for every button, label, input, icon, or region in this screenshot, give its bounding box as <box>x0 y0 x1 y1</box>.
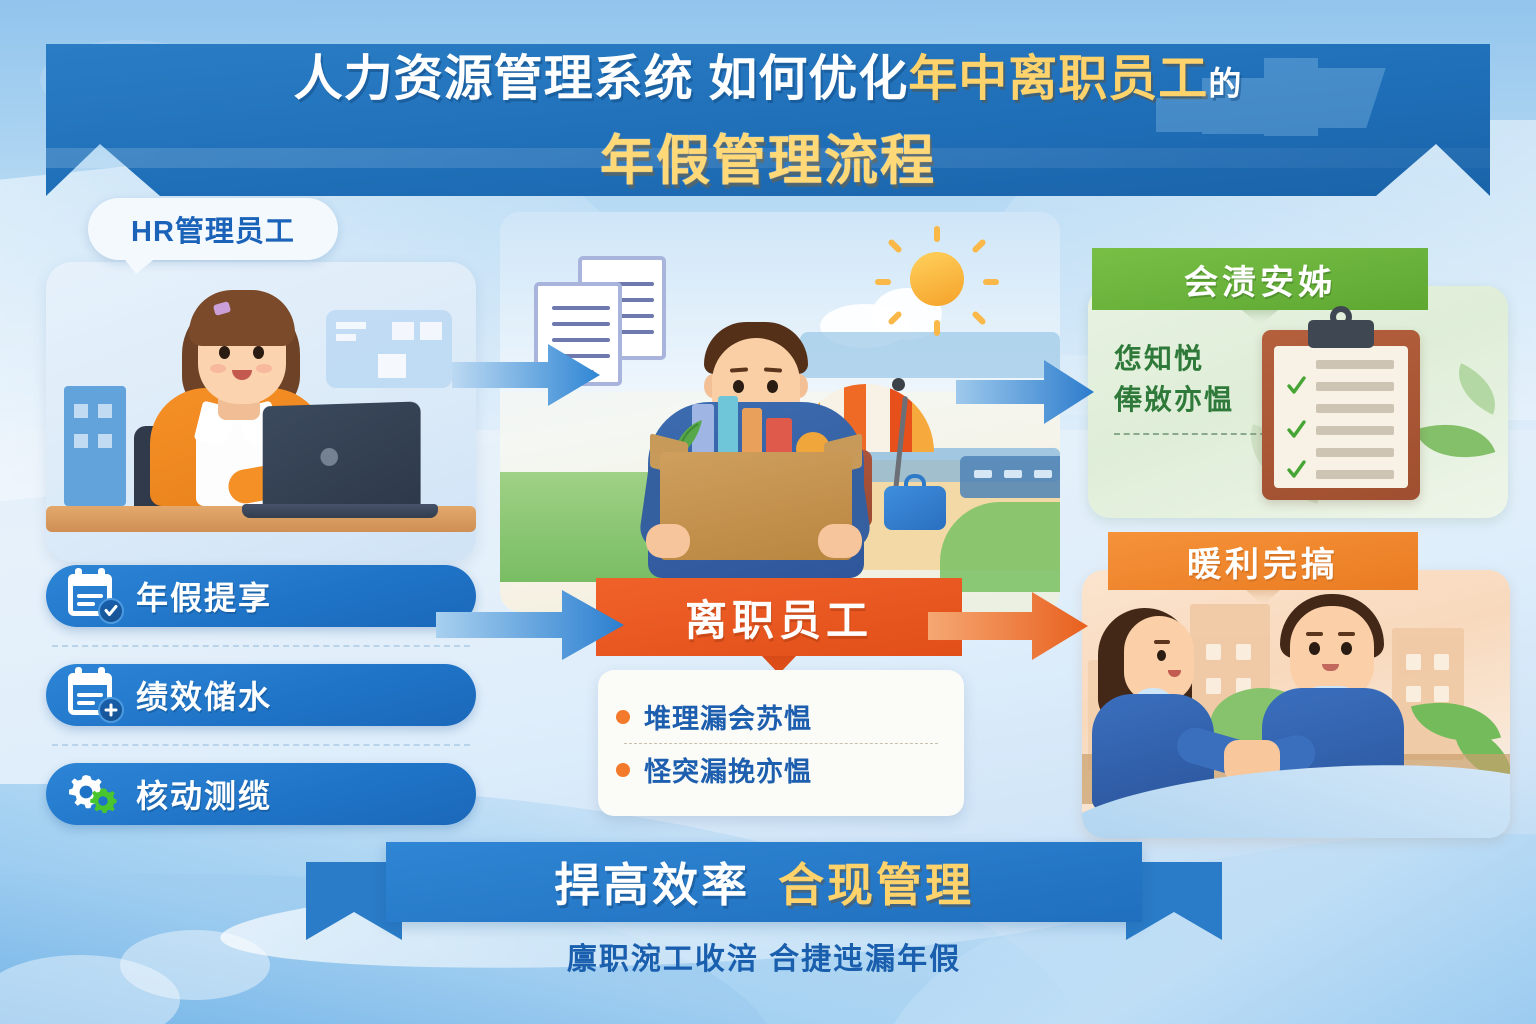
sidebar-item-label: 年假提享 <box>136 573 272 619</box>
background-cloud-2 <box>120 930 270 1000</box>
arrow-employee-to-handover <box>928 582 1092 670</box>
leaf-decoration-2 <box>1415 408 1496 473</box>
title-ribbon-decoration <box>1146 50 1386 160</box>
sidebar-item-annual-leave[interactable]: 年假提享 <box>46 565 476 627</box>
calendar-plus-icon <box>64 671 120 719</box>
hr-speech-bubble: HR管理员工 <box>88 198 338 260</box>
list-divider-2 <box>52 744 470 746</box>
check-icon-3 <box>1286 460 1306 480</box>
laptop-screen <box>263 401 421 512</box>
center-ribbon-label: 离职员工 <box>596 578 962 656</box>
settlement-dash-rule <box>1114 433 1266 435</box>
sidebar-item-label: 核动测缆 <box>136 771 272 817</box>
infographic-canvas: 人力资源管理系统 如何优化 年中离职员工 的 年假管理流程 <box>0 0 1536 1024</box>
arrow-list-to-ribbon <box>436 580 626 670</box>
settlement-text-block: 㤰知悦 俸敚亦愠 <box>1114 338 1266 435</box>
sun-icon <box>910 252 964 306</box>
travel-bag-icon <box>884 486 946 530</box>
employee-hand-right <box>818 524 862 558</box>
center-bullet-label: 堆理漏会苏愠 <box>644 697 812 736</box>
check-icon-2 <box>1286 420 1306 440</box>
employee-hand-left <box>646 524 690 558</box>
gears-icon <box>64 770 120 818</box>
arrow-hr-to-employee <box>452 332 602 418</box>
footer-subtitle: 廪职涴工收涪 合捷迍漏年假 <box>386 934 1142 978</box>
sidebar-item-settings[interactable]: 核动测缆 <box>46 763 476 825</box>
footer-banner: 捍高效率 合现管理 <box>386 842 1142 922</box>
list-divider-1 <box>52 645 470 647</box>
center-bullet-card: 堆理漏会苏愠 怪突漏挽亦愠 <box>598 670 964 816</box>
building-shape-1 <box>64 386 126 506</box>
center-bullet-row: 堆理漏会苏愠 <box>616 691 946 743</box>
settlement-line-1: 㤰知悦 <box>1114 338 1266 379</box>
footer-banner-yellow: 合现管理 <box>778 849 974 915</box>
check-icon-1 <box>1286 376 1306 396</box>
checklist-clipboard-icon <box>1262 330 1420 500</box>
laptop-base <box>242 504 438 518</box>
bullet-dot-icon <box>616 710 630 724</box>
clipboard-paper <box>1274 346 1408 488</box>
umbrella-knob <box>892 378 905 391</box>
settlement-line-2: 俸敚亦愠 <box>1114 379 1266 420</box>
feature-list: 年假提享 绩效储水 <box>46 565 476 825</box>
leaf-decoration-3 <box>1447 363 1507 414</box>
hr-speech-bubble-label: HR管理员工 <box>131 208 295 250</box>
handover-card <box>1082 570 1510 838</box>
center-bullet-label: 怪突漏挽亦愠 <box>644 750 812 789</box>
center-bullet-row: 怪突漏挽亦愠 <box>616 744 946 796</box>
check-badge-icon <box>98 598 124 624</box>
calendar-check-icon <box>64 572 120 620</box>
settlement-ribbon-label: 会渍安姊 <box>1092 248 1428 310</box>
gear-green-icon <box>88 786 118 816</box>
sidebar-item-label: 绩效储水 <box>136 672 272 718</box>
handover-ribbon-label: 暖利完搞 <box>1108 532 1418 590</box>
id-card-graphic <box>326 310 452 388</box>
hr-hair-top <box>189 290 295 346</box>
sidebar-item-performance[interactable]: 绩效储水 <box>46 664 476 726</box>
arrow-employee-to-settlement <box>956 352 1096 432</box>
footer-banner-white: 捍高效率 <box>554 849 750 915</box>
plus-badge-icon <box>98 697 124 723</box>
bullet-dot-icon <box>616 763 630 777</box>
hr-specialist-scene <box>46 262 476 562</box>
scene-bench <box>960 456 1060 498</box>
clipboard-ring <box>1330 306 1352 328</box>
